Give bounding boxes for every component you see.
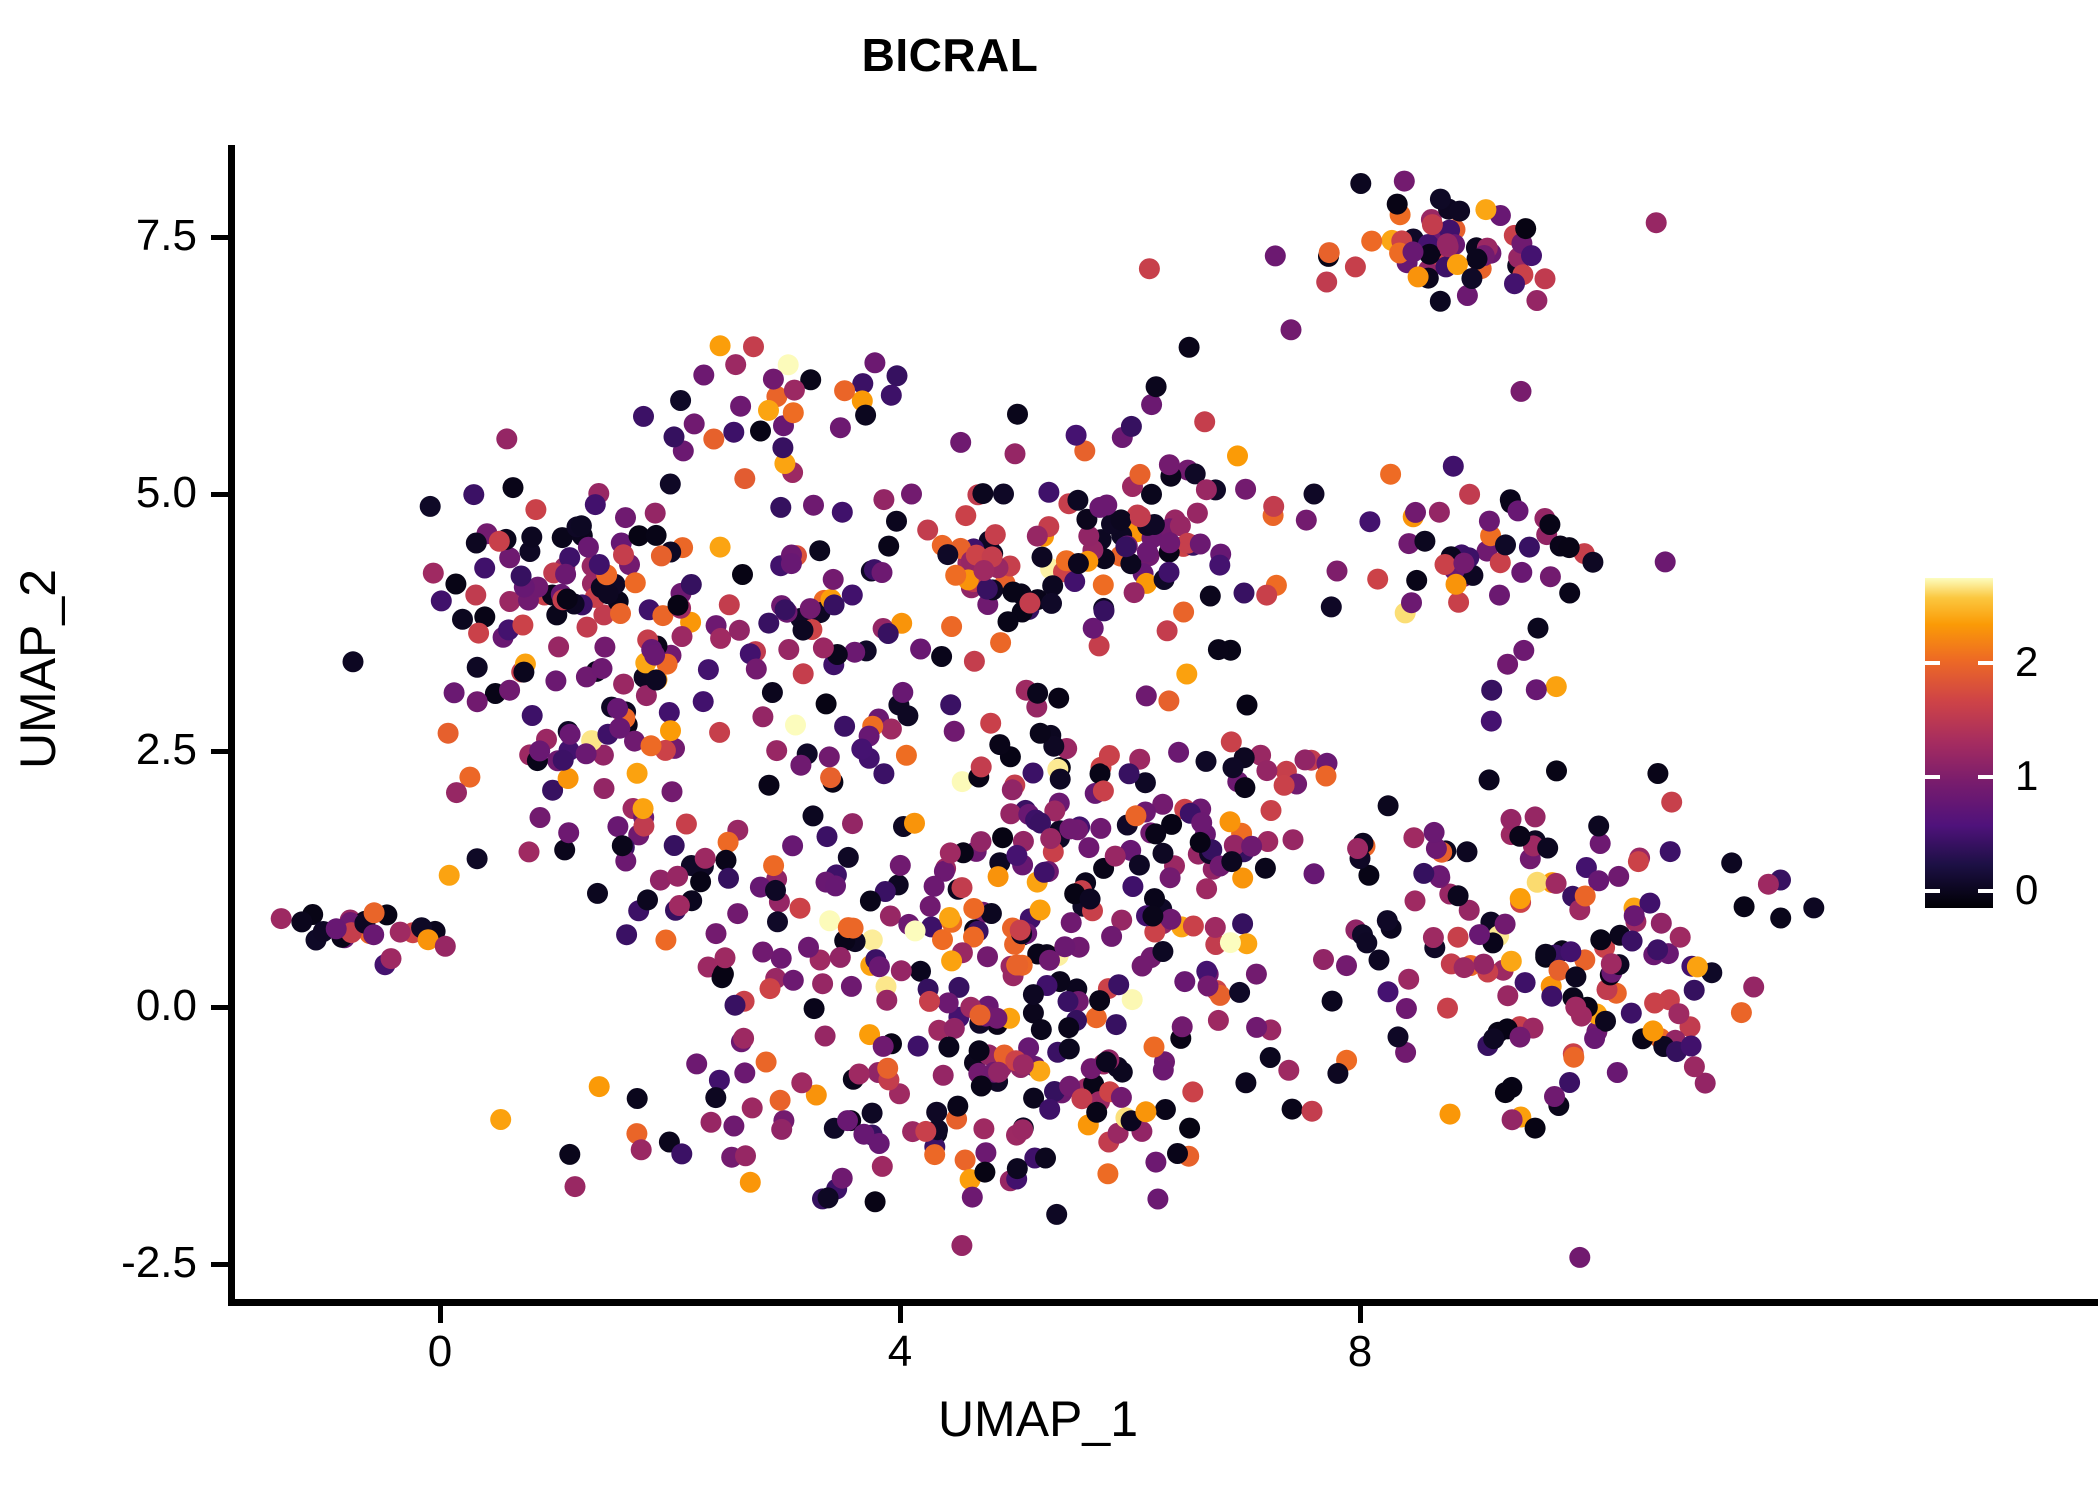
scatter-point: [420, 496, 441, 517]
scatter-point: [1322, 991, 1343, 1012]
scatter-point: [1108, 974, 1129, 995]
scatter-point: [577, 617, 598, 638]
scatter-point: [558, 768, 579, 789]
scatter-point: [1129, 855, 1150, 876]
scatter-point: [1068, 553, 1089, 574]
scatter-point: [1179, 1118, 1200, 1139]
scatter-point: [1142, 906, 1163, 927]
scatter-point: [363, 924, 384, 945]
scatter-point: [1147, 1189, 1168, 1210]
scatter-point: [1174, 971, 1195, 992]
scatter-point: [587, 883, 608, 904]
scatter-point: [1030, 723, 1051, 744]
y-tick-mark: [211, 492, 228, 497]
scatter-point: [1067, 490, 1088, 511]
scatter-point: [499, 680, 520, 701]
scatter-point: [1628, 851, 1649, 872]
scatter-point: [607, 816, 628, 837]
scatter-point: [1661, 792, 1682, 813]
scatter-point: [1093, 574, 1114, 595]
scatter-point: [815, 1026, 836, 1047]
scatter-point: [1205, 917, 1226, 938]
scatter-point: [1027, 683, 1048, 704]
scatter-point: [784, 380, 805, 401]
scatter-point: [609, 718, 630, 739]
scatter-point: [1007, 955, 1028, 976]
scatter-point: [633, 406, 654, 427]
scatter-point: [763, 855, 784, 876]
scatter-point: [1145, 1152, 1166, 1173]
scatter-point: [1535, 268, 1556, 289]
colorbar-tick-label: 0: [2015, 869, 2100, 911]
scatter-point: [1582, 552, 1603, 573]
scatter-point: [732, 564, 753, 585]
scatter-point: [793, 663, 814, 684]
scatter-point: [1090, 818, 1111, 839]
scatter-point: [1038, 482, 1059, 503]
scatter-point: [613, 544, 634, 565]
scatter-point: [1064, 571, 1085, 592]
scatter-point: [1430, 189, 1451, 210]
scatter-point: [873, 1036, 894, 1057]
scatter-point: [771, 948, 792, 969]
scatter-point: [813, 637, 834, 658]
scatter-point: [950, 432, 971, 453]
scatter-point: [933, 1065, 954, 1086]
scatter-point: [467, 657, 488, 678]
scatter-point: [750, 421, 771, 442]
scatter-point: [1497, 985, 1518, 1006]
scatter-point: [1563, 1047, 1584, 1068]
scatter-point: [1124, 582, 1145, 603]
scatter-point: [919, 991, 940, 1012]
scatter-point: [670, 390, 691, 411]
scatter-point: [973, 1118, 994, 1139]
scatter-point: [557, 589, 578, 610]
scatter-point: [530, 807, 551, 828]
scatter-point: [891, 960, 912, 981]
scatter-point: [343, 651, 364, 672]
x-axis-line: [228, 1299, 2098, 1306]
colorbar-tick-2: [1978, 661, 1993, 665]
scatter-point: [1423, 927, 1444, 948]
scatter-point: [1607, 1062, 1628, 1083]
scatter-point: [945, 565, 966, 586]
scatter-point: [1544, 1086, 1565, 1107]
scatter-point: [1469, 924, 1490, 945]
scatter-point: [612, 835, 633, 856]
scatter-point: [676, 814, 697, 835]
scatter-point: [1265, 245, 1286, 266]
colorbar-tick-1: [1978, 775, 1993, 779]
scatter-point: [1125, 805, 1146, 826]
scatter-point: [627, 1088, 648, 1109]
scatter-point: [790, 755, 811, 776]
scatter-point: [576, 743, 597, 764]
scatter-point: [1502, 1109, 1523, 1130]
scatter-point: [1058, 1017, 1079, 1038]
scatter-point: [944, 721, 965, 742]
scatter-point: [664, 426, 685, 447]
scatter-point: [1453, 553, 1474, 574]
scatter-point: [1361, 231, 1382, 252]
scatter-point: [1139, 258, 1160, 279]
scatter-point: [1526, 679, 1547, 700]
scatter-point: [641, 735, 662, 756]
scatter-point: [668, 595, 689, 616]
scatter-point: [615, 507, 636, 528]
scatter-point: [881, 385, 902, 406]
scatter-point: [1223, 757, 1244, 778]
scatter-point: [468, 623, 489, 644]
scatter-point: [1527, 872, 1548, 893]
scatter-point: [974, 1162, 995, 1183]
scatter-point: [985, 524, 1006, 545]
scatter-point: [1000, 803, 1021, 824]
scatter-point: [853, 1124, 874, 1145]
scatter-point: [1030, 900, 1051, 921]
scatter-point: [1495, 534, 1516, 555]
scatter-point: [830, 417, 851, 438]
scatter-point: [511, 566, 532, 587]
scatter-point: [474, 558, 495, 579]
scatter-point: [667, 866, 688, 887]
scatter-point: [1078, 837, 1099, 858]
scatter-point: [734, 1062, 755, 1083]
x-tick-label: 8: [1280, 1330, 1440, 1374]
scatter-point: [1721, 852, 1742, 873]
scatter-point: [798, 937, 819, 958]
scatter-point: [693, 691, 714, 712]
scatter-point: [1770, 908, 1791, 929]
scatter-point: [1013, 1054, 1034, 1075]
scatter-point: [1260, 1047, 1281, 1068]
scatter-point: [908, 1036, 929, 1057]
scatter-point: [1229, 982, 1250, 1003]
scatter-point: [920, 896, 941, 917]
scatter-point: [686, 1053, 707, 1074]
x-tick-mark: [1358, 1306, 1363, 1323]
scatter-point: [993, 484, 1014, 505]
y-tick-label: 0.0: [0, 984, 197, 1028]
scatter-point: [1159, 562, 1180, 583]
scatter-point: [1584, 1028, 1605, 1049]
scatter-point: [872, 562, 893, 583]
scatter-point: [1490, 552, 1511, 573]
scatter-point: [1010, 920, 1031, 941]
scatter-point: [937, 544, 958, 565]
colorbar-tick-0: [1978, 889, 1993, 893]
scatter-point: [1234, 583, 1255, 604]
scatter-point: [489, 531, 510, 552]
scatter-point: [1182, 1081, 1203, 1102]
scatter-point: [910, 639, 931, 660]
scatter-point: [1023, 984, 1044, 1005]
scatter-point: [740, 1172, 761, 1193]
scatter-point: [560, 724, 581, 745]
scatter-point: [1007, 404, 1028, 425]
scatter-point: [952, 877, 973, 898]
scatter-point: [782, 835, 803, 856]
scatter-point: [1378, 795, 1399, 816]
scatter-point: [1624, 905, 1645, 926]
scatter-point: [1179, 337, 1200, 358]
scatter-point: [452, 609, 473, 630]
scatter-point: [1235, 479, 1256, 500]
scatter-point: [758, 613, 779, 634]
scatter-point: [431, 590, 452, 611]
scatter-point: [1121, 416, 1142, 437]
scatter-point: [947, 1096, 968, 1117]
x-tick-label: 4: [820, 1330, 980, 1374]
scatter-point: [962, 1187, 983, 1208]
scatter-point: [1278, 1060, 1299, 1081]
scatter-point: [1187, 503, 1208, 524]
scatter-point: [1080, 889, 1101, 910]
scatter-point: [710, 335, 731, 356]
scatter-point: [765, 880, 786, 901]
scatter-point: [592, 658, 613, 679]
scatter-point: [445, 574, 466, 595]
scatter-point: [1012, 1119, 1033, 1140]
scatter-point: [1246, 964, 1267, 985]
scatter-point: [1655, 551, 1676, 572]
scatter-point: [1040, 828, 1061, 849]
scatter-point: [1159, 532, 1180, 553]
scatter-point: [684, 413, 705, 434]
scatter-point: [695, 848, 716, 869]
scatter-point: [941, 616, 962, 637]
scatter-point: [924, 876, 945, 897]
scatter-point: [990, 632, 1011, 653]
scatter-point: [1388, 1026, 1409, 1047]
scatter-point: [716, 850, 737, 871]
scatter-point: [818, 1187, 839, 1208]
scatter-point: [832, 502, 853, 523]
scatter-point: [545, 670, 566, 691]
scatter-point: [972, 483, 993, 504]
scatter-point: [1220, 811, 1241, 832]
scatter-point: [710, 537, 731, 558]
scatter-point: [1336, 955, 1357, 976]
scatter-point: [878, 536, 899, 557]
plot-area: [233, 145, 1843, 1305]
scatter-point: [503, 477, 524, 498]
scatter-point: [1023, 763, 1044, 784]
scatter-point: [1198, 976, 1219, 997]
scatter-point: [1684, 1056, 1705, 1077]
scatter-point: [1403, 241, 1424, 262]
scatter-point: [1313, 949, 1334, 970]
scatter-point: [709, 722, 730, 743]
scatter-point: [1190, 832, 1211, 853]
scatter-point: [873, 763, 894, 784]
scatter-point: [390, 922, 411, 943]
scatter-point: [438, 723, 459, 744]
scatter-point: [1406, 570, 1427, 591]
scatter-point: [752, 942, 773, 963]
scatter-point: [783, 402, 804, 423]
scatter-point: [1237, 695, 1258, 716]
scatter-point: [594, 637, 615, 658]
scatter-point: [1005, 443, 1026, 464]
y-axis-line: [228, 145, 235, 1303]
scatter-point: [791, 1072, 812, 1093]
scatter-point: [1168, 742, 1189, 763]
scatter-point: [830, 947, 851, 968]
scatter-point: [1608, 866, 1629, 887]
scatter-point: [1183, 916, 1204, 937]
scatter-point: [1449, 201, 1470, 222]
scatter-point: [1282, 1099, 1303, 1120]
scatter-point: [671, 1143, 692, 1164]
scatter-point: [975, 1142, 996, 1163]
scatter-point: [613, 674, 634, 695]
scatter-point: [1565, 997, 1586, 1018]
scatter-point: [1039, 950, 1060, 971]
scatter-point: [1144, 1037, 1165, 1058]
scatter-point: [718, 832, 739, 853]
scatter-point: [1497, 654, 1518, 675]
scatter-point: [1220, 932, 1241, 953]
scatter-point: [1413, 863, 1434, 884]
scatter-point: [756, 1052, 777, 1073]
scatter-point: [1345, 256, 1366, 277]
scatter-point: [1396, 998, 1417, 1019]
scatter-point: [1546, 873, 1567, 894]
scatter-point: [1152, 941, 1173, 962]
scatter-point: [1519, 537, 1540, 558]
scatter-point: [1621, 1003, 1642, 1024]
scatter-point: [1559, 583, 1580, 604]
scatter-point: [1424, 822, 1445, 843]
scatter-point: [1094, 600, 1115, 621]
scatter-point: [901, 484, 922, 505]
scatter-point: [734, 468, 755, 489]
scatter-point: [1263, 496, 1284, 517]
x-tick-mark: [898, 1306, 903, 1323]
scatter-point: [1200, 586, 1221, 607]
scatter-point: [616, 924, 637, 945]
scatter-point: [1089, 990, 1110, 1011]
scatter-point: [1050, 769, 1071, 790]
scatter-point: [1440, 1104, 1461, 1125]
scatter-point: [766, 740, 787, 761]
scatter-point: [1158, 690, 1179, 711]
scatter-point: [1394, 171, 1415, 192]
scatter-point: [1448, 885, 1469, 906]
scatter-point: [1646, 212, 1667, 233]
scatter-point: [1601, 953, 1622, 974]
scatter-point: [1540, 566, 1561, 587]
scatter-point: [463, 484, 484, 505]
umap-scatter-plot: BICRAL -2.50.02.55.07.5 048 UMAP_2 UMAP_…: [0, 0, 2100, 1500]
scatter-point: [1509, 826, 1530, 847]
scatter-point: [660, 474, 681, 495]
scatter-point: [864, 352, 885, 373]
scatter-point: [812, 973, 833, 994]
scatter-point: [446, 782, 467, 803]
scatter-point: [1588, 816, 1609, 837]
scatter-point: [743, 336, 764, 357]
scatter-point: [1034, 862, 1055, 883]
scatter-point: [698, 659, 719, 680]
scatter-point: [1622, 931, 1643, 952]
scatter-point: [735, 1145, 756, 1166]
scatter-point: [1590, 929, 1611, 950]
scatter-point: [1435, 554, 1456, 575]
scatter-point: [892, 682, 913, 703]
scatter-point: [594, 778, 615, 799]
scatter-point: [1235, 1072, 1256, 1093]
y-tick-label: -2.5: [0, 1241, 197, 1285]
scatter-point: [1459, 484, 1480, 505]
scatter-point: [944, 1018, 965, 1039]
scatter-point: [904, 813, 925, 834]
scatter-point: [1221, 851, 1242, 872]
scatter-point: [467, 691, 488, 712]
scatter-point: [1295, 749, 1316, 770]
scatter-point: [1232, 913, 1253, 934]
scatter-point: [1537, 838, 1558, 859]
scatter-point: [963, 898, 984, 919]
scatter-point: [1513, 640, 1534, 661]
colorbar-tick-2: [1925, 661, 1940, 665]
scatter-point: [444, 682, 465, 703]
scatter-point: [1359, 511, 1380, 532]
scatter-point: [977, 946, 998, 967]
scatter-point: [565, 1176, 586, 1197]
scatter-point: [1032, 547, 1053, 568]
scatter-point: [465, 585, 486, 606]
x-tick-mark: [438, 1306, 443, 1323]
scatter-point: [655, 930, 676, 951]
scatter-point: [1448, 927, 1469, 948]
scatter-point: [880, 906, 901, 927]
scatter-point: [729, 620, 750, 641]
scatter-point: [1327, 561, 1348, 582]
scatter-point: [719, 594, 740, 615]
scatter-point: [705, 1087, 726, 1108]
scatter-point: [762, 682, 783, 703]
scatter-point: [1296, 510, 1317, 531]
scatter-point: [723, 1116, 744, 1137]
scatter-point: [660, 720, 681, 741]
scatter-point: [1380, 464, 1401, 485]
scatter-point: [1196, 878, 1217, 899]
scatter-point: [693, 365, 714, 386]
scatter-point: [1153, 1060, 1174, 1081]
scatter-point: [1430, 291, 1451, 312]
scatter-point: [1647, 763, 1668, 784]
scatter-point: [838, 847, 859, 868]
scatter-point: [1546, 676, 1567, 697]
scatter-point: [1089, 497, 1110, 518]
scatter-point: [1155, 1099, 1176, 1120]
scatter-point: [467, 848, 488, 869]
scatter-point: [578, 537, 599, 558]
scatter-point: [873, 489, 894, 510]
scatter-point: [1097, 1163, 1118, 1184]
scatter-point: [980, 713, 1001, 734]
scatter-point: [1803, 897, 1824, 918]
scatter-point: [1457, 841, 1478, 862]
scatter-point: [1508, 500, 1529, 521]
scatter-point: [1644, 993, 1665, 1014]
scatter-point: [746, 659, 767, 680]
scatter-point: [1101, 926, 1122, 947]
scatter-point: [1083, 618, 1104, 639]
